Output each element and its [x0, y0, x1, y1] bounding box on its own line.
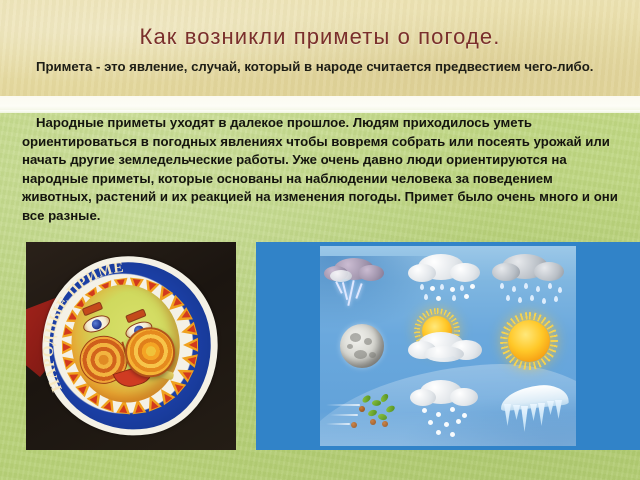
weather-icons-collage [256, 242, 640, 450]
weather-icon-full-moon [320, 312, 404, 378]
paragraph-definition: Примета - это явление, случай, который в… [22, 58, 622, 75]
eyebrow-left [82, 301, 104, 316]
page-title: Как возникли приметы о погоде. [0, 24, 640, 50]
weather-icon-thunderstorm [320, 248, 404, 314]
plaque-body: НАРОДНЫЕ ПРИМЕТЫ [26, 242, 236, 450]
paragraph-body: Народные приметы уходят в далекое прошло… [22, 114, 622, 226]
weather-icon-clear-sun [490, 312, 574, 378]
plaque-triangle [183, 338, 198, 352]
pupil-left [90, 318, 103, 331]
weather-icon-heavy-rain [490, 248, 574, 314]
band-divider [0, 110, 640, 113]
panel-bottom-shade [320, 412, 576, 446]
weather-icon-sun-behind-cloud [406, 312, 490, 378]
plaque-triangle [179, 322, 197, 339]
weather-panel [320, 246, 576, 446]
sun-face-plaque-photo: НАРОДНЫЕ ПРИМЕТЫ [26, 242, 236, 450]
slide-canvas: Как возникли приметы о погоде. Примета -… [0, 0, 640, 480]
weather-icon-rain-snow [406, 248, 490, 314]
moon-disc [340, 324, 384, 368]
